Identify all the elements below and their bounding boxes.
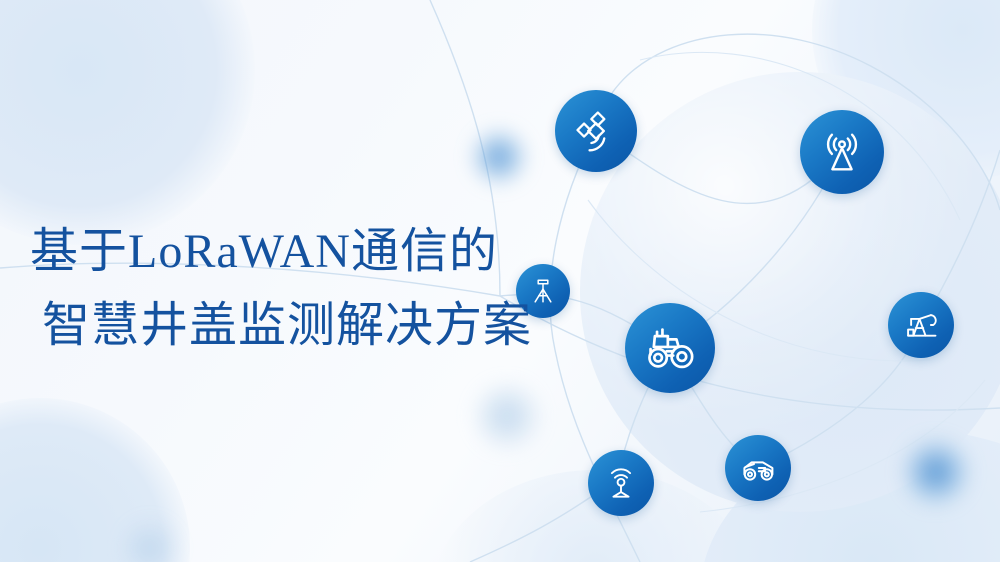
title-line-2: 智慧井盖监测解决方案 [42,302,590,350]
presentation-slide: 基于LoRaWAN通信的 智慧井盖监测解决方案 [0,0,1000,562]
background-blob-top-left [0,0,255,245]
badge-antenna[interactable] [800,110,884,194]
badge-beacon[interactable] [588,450,654,516]
harvester-icon [738,448,778,488]
badge-vehicle[interactable] [725,435,791,501]
accent-dot-bottom-left [120,518,180,562]
accent-dot-right [902,438,970,506]
oil-pumpjack-icon [902,306,940,344]
network-globe [580,72,1000,512]
slide-title: 基于LoRaWAN通信的 智慧井盖监测解决方案 [30,228,590,350]
accent-dot-lower [473,382,541,450]
badge-satellite[interactable] [555,90,637,172]
wireless-beacon-icon [602,464,640,502]
satellite-icon [573,108,619,154]
radio-tower-icon [818,128,866,176]
background-blob-bottom-left [0,398,190,562]
badge-tractor[interactable] [625,303,715,393]
badge-pumpjack[interactable] [888,292,954,358]
tractor-icon [643,321,697,375]
accent-dot-upper [470,128,528,186]
title-line-1: 基于LoRaWAN通信的 [30,228,590,276]
